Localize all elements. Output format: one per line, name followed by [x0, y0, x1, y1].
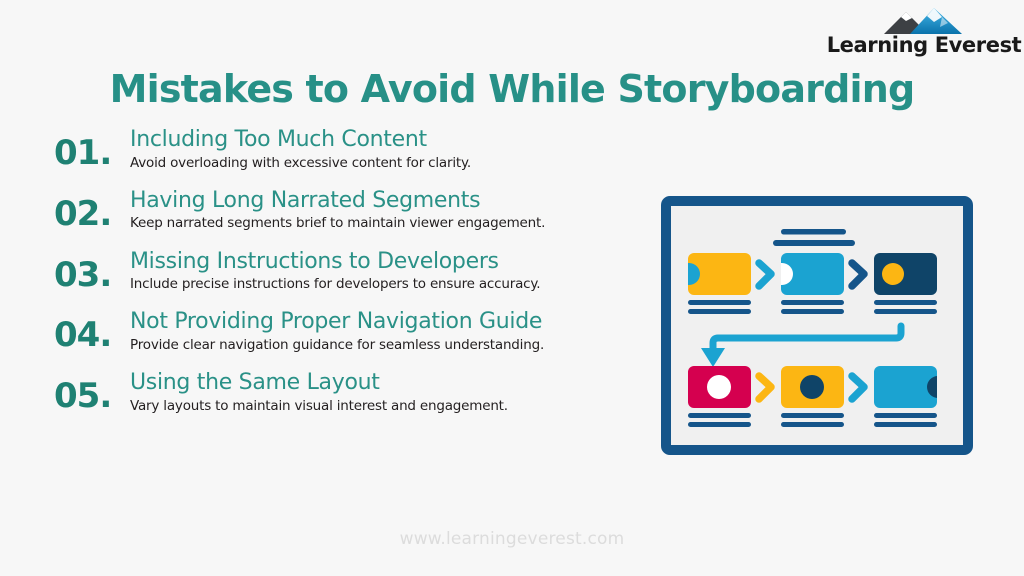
storyboard-card-5 — [781, 366, 844, 427]
list-item-body: Not Providing Proper Navigation Guide Pr… — [130, 310, 644, 353]
list-item-description: Provide clear navigation guidance for se… — [130, 337, 644, 353]
mountain-peaks-icon — [876, 8, 972, 34]
storyboard-frames-diagram — [661, 196, 973, 455]
slide-root: { "brand": { "logo_text": "Learning Ever… — [0, 0, 1024, 576]
list-item-number: 03. — [54, 250, 130, 292]
list-item-title: Including Too Much Content — [130, 128, 644, 153]
list-item-title: Missing Instructions to Developers — [130, 250, 644, 275]
list-item-number: 05. — [54, 371, 130, 413]
list-item-body: Having Long Narrated Segments Keep narra… — [130, 189, 644, 232]
list-item: 03. Missing Instructions to Developers I… — [54, 250, 644, 293]
list-item: 01. Including Too Much Content Avoid ove… — [54, 128, 644, 171]
list-item-body: Missing Instructions to Developers Inclu… — [130, 250, 644, 293]
list-item-number: 04. — [54, 310, 130, 352]
brand-name: Learning Everest — [827, 35, 1022, 56]
header-line-long — [773, 240, 855, 246]
list-item-description: Include precise instructions for develop… — [130, 276, 644, 292]
list-item-description: Vary layouts to maintain visual interest… — [130, 398, 644, 414]
mistakes-list: 01. Including Too Much Content Avoid ove… — [54, 128, 644, 432]
list-item-description: Avoid overloading with excessive content… — [130, 155, 644, 171]
footer-website-url[interactable]: www.learningeverest.com — [0, 529, 1024, 549]
list-item-body: Using the Same Layout Vary layouts to ma… — [130, 371, 644, 414]
list-item-body: Including Too Much Content Avoid overloa… — [130, 128, 644, 171]
storyboard-card-3 — [874, 253, 937, 314]
list-item-description: Keep narrated segments brief to maintain… — [130, 215, 644, 231]
page-title: Mistakes to Avoid While Storyboarding — [0, 70, 1024, 108]
list-item-title: Using the Same Layout — [130, 371, 644, 396]
list-item-title: Not Providing Proper Navigation Guide — [130, 310, 644, 335]
list-item-number: 01. — [54, 128, 130, 170]
storyboard-outer-frame — [666, 201, 968, 450]
list-item: 05. Using the Same Layout Vary layouts t… — [54, 371, 644, 414]
list-item-number: 02. — [54, 189, 130, 231]
list-item-title: Having Long Narrated Segments — [130, 189, 644, 214]
list-item: 04. Not Providing Proper Navigation Guid… — [54, 310, 644, 353]
brand-logo: Learning Everest — [838, 8, 1010, 60]
header-line-short — [781, 229, 846, 235]
list-item: 02. Having Long Narrated Segments Keep n… — [54, 189, 644, 232]
storyboard-card-4 — [688, 366, 751, 427]
